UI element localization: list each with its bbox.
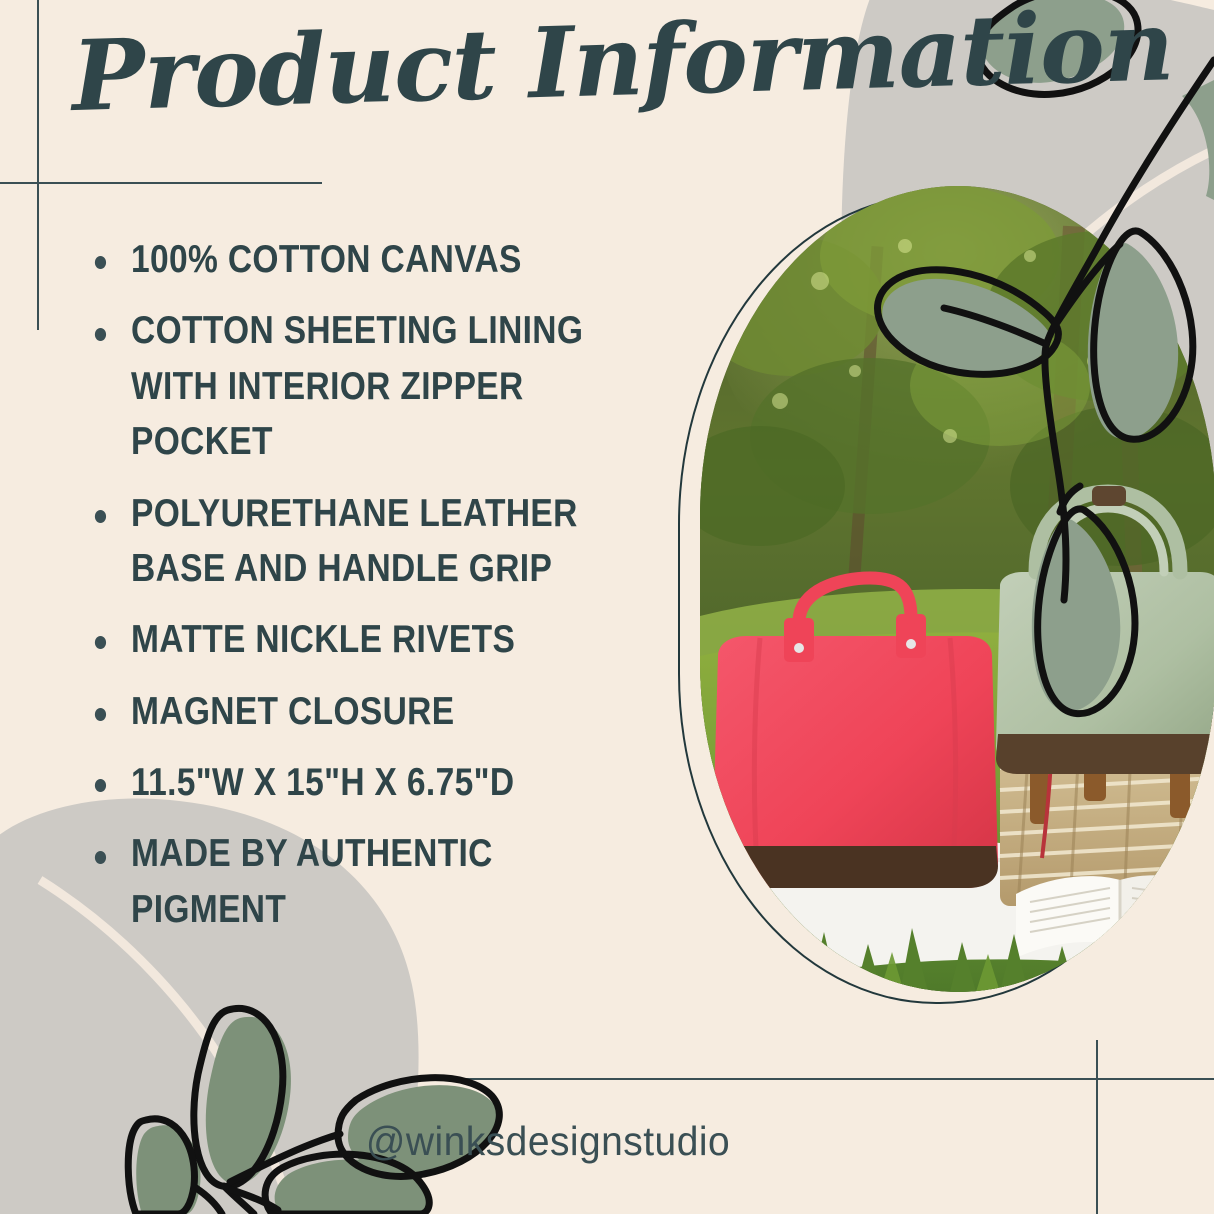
- bullet-icon: [95, 328, 106, 341]
- list-item: MAGNET CLOSURE: [88, 684, 604, 739]
- page-title: Product Information: [71, 0, 1175, 128]
- list-item: 100% COTTON CANVAS: [88, 232, 604, 287]
- bullet-icon: [95, 851, 106, 864]
- list-item: MADE BY AUTHENTIC PIGMENT: [88, 826, 604, 937]
- list-item: MATTE NICKLE RIVETS: [88, 612, 604, 667]
- bullet-icon: [95, 256, 106, 269]
- social-handle: @winksdesignstudio: [27, 1118, 1068, 1165]
- bullet-icon: [95, 779, 106, 792]
- bullet-icon: [95, 708, 106, 721]
- photo-image: [700, 186, 1214, 992]
- list-item: COTTON SHEETING LINING WITH INTERIOR ZIP…: [88, 303, 604, 469]
- rule-vertical-bottom-right: [1096, 1040, 1098, 1214]
- list-item: 11.5"W X 15"H X 6.75"D: [88, 755, 604, 810]
- list-item-label: 100% COTTON CANVAS: [131, 238, 522, 281]
- poster-canvas: Product Information 100% COTTON CANVAS C…: [0, 0, 1214, 1214]
- list-item-label: MATTE NICKLE RIVETS: [131, 618, 515, 661]
- bullet-icon: [95, 510, 106, 523]
- rule-vertical-top-left: [37, 0, 39, 330]
- product-photo: [678, 186, 1214, 1006]
- list-item-label: MADE BY AUTHENTIC PIGMENT: [131, 832, 493, 930]
- list-item: POLYURETHANE LEATHER BASE AND HANDLE GRI…: [88, 486, 604, 597]
- list-item-label: POLYURETHANE LEATHER BASE AND HANDLE GRI…: [131, 492, 578, 590]
- list-item-label: MAGNET CLOSURE: [131, 690, 454, 733]
- bullet-icon: [95, 636, 106, 649]
- product-spec-list: 100% COTTON CANVAS COTTON SHEETING LININ…: [88, 232, 688, 953]
- list-item-label: COTTON SHEETING LINING WITH INTERIOR ZIP…: [131, 309, 583, 463]
- list-item-label: 11.5"W X 15"H X 6.75"D: [131, 761, 514, 804]
- rule-horizontal-top-left: [0, 182, 322, 184]
